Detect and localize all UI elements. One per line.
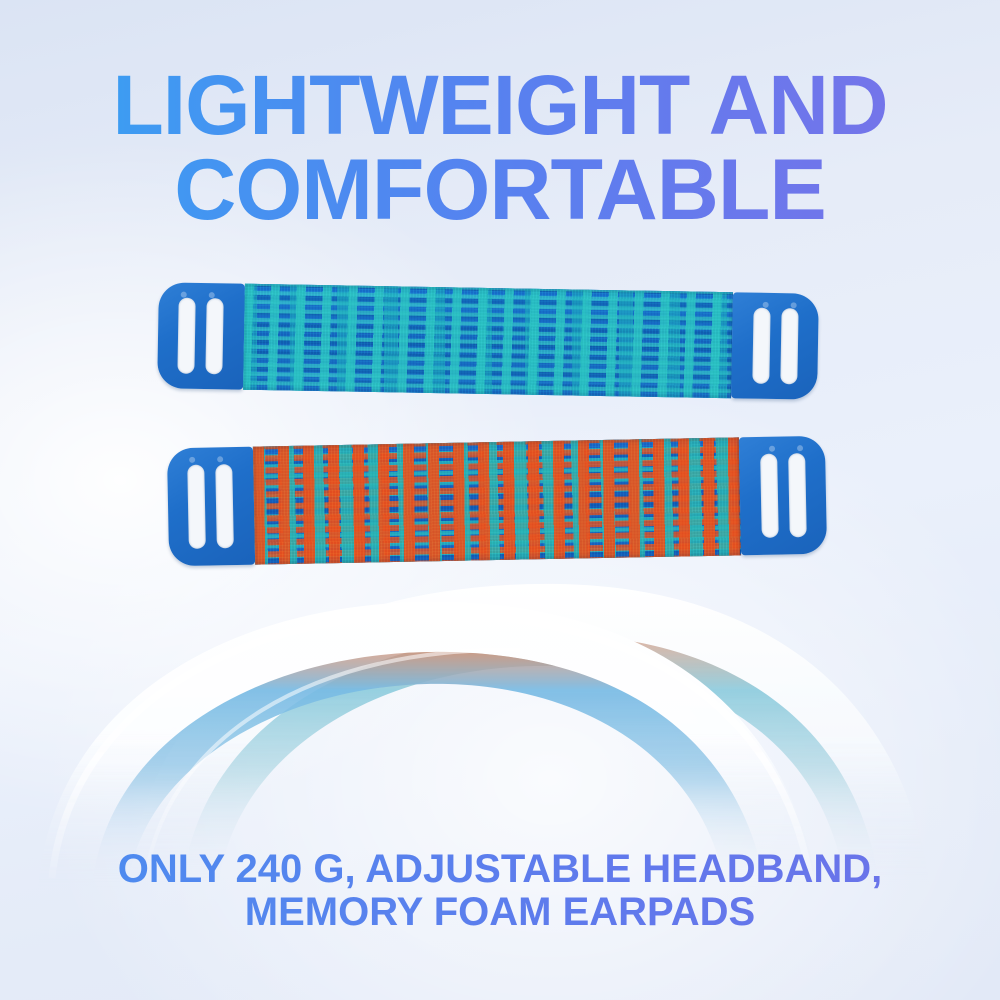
page-title: LIGHTWEIGHT AND COMFORTABLE xyxy=(0,66,1000,231)
endcap-slot xyxy=(187,464,206,549)
headphone-arcs xyxy=(0,560,1000,890)
endcap-slot xyxy=(752,307,770,384)
endcap-dimple-icon xyxy=(189,457,195,463)
strap-endcap-right xyxy=(731,292,819,399)
strap-fabric-webbing xyxy=(243,284,733,399)
endcap-dimple-icon xyxy=(769,446,775,452)
strap-endcap-left xyxy=(167,447,255,567)
endcap-slot xyxy=(215,464,234,549)
headline-line-2: COMFORTABLE xyxy=(0,150,1000,232)
endcap-slot xyxy=(205,298,223,375)
endcap-slot xyxy=(788,453,807,538)
feature-caption: ONLY 240 G, ADJUSTABLE HEADBAND, MEMORY … xyxy=(0,848,1000,934)
strap-endcap-left xyxy=(157,282,245,389)
endcap-dimple-icon xyxy=(217,456,223,462)
orange-teal-blue-woven-strap xyxy=(167,436,827,567)
endcap-slot xyxy=(177,297,195,374)
blue-teal-woven-strap xyxy=(157,282,819,400)
caption-line-2: MEMORY FOAM EARPADS xyxy=(0,891,1000,934)
endcap-slot xyxy=(780,308,798,385)
endcap-slot xyxy=(760,453,779,538)
headline-line-1: LIGHTWEIGHT AND xyxy=(0,66,1000,146)
endcap-dimple-icon xyxy=(797,445,803,451)
strap-endcap-right xyxy=(739,436,827,556)
marketing-banner: LIGHTWEIGHT AND COMFORTABLE xyxy=(0,0,1000,1000)
caption-line-1: ONLY 240 G, ADJUSTABLE HEADBAND, xyxy=(0,848,1000,891)
strap-fabric-webbing xyxy=(253,437,741,564)
